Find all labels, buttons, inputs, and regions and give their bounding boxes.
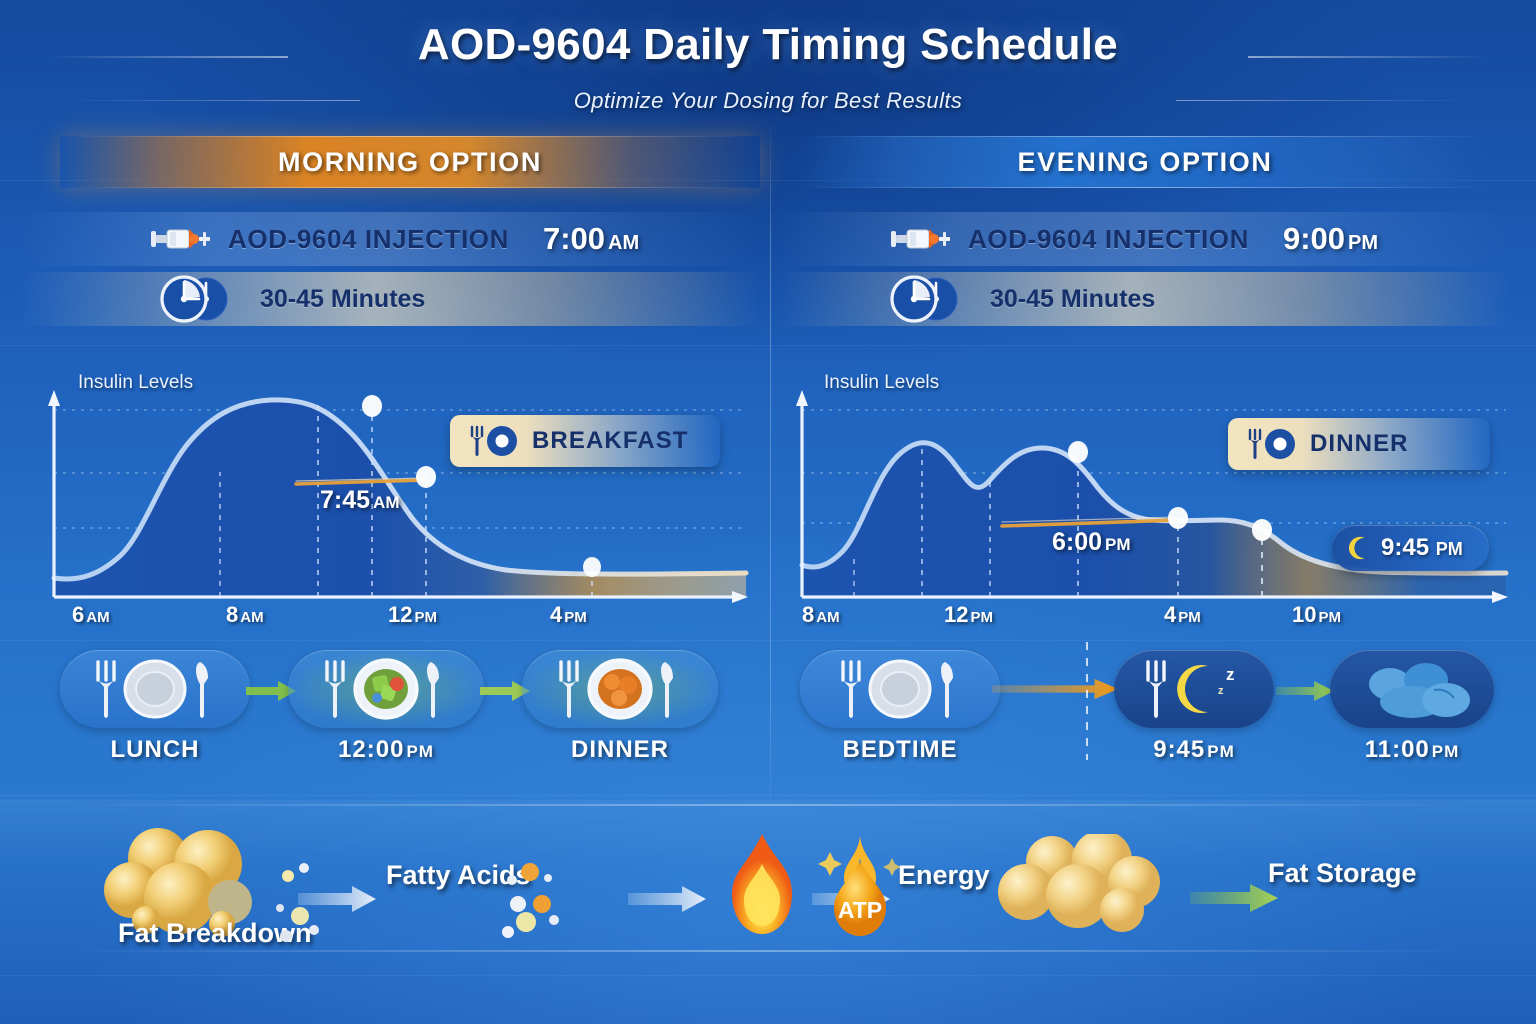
arrow-icon bbox=[1276, 680, 1336, 702]
evening-injection-label: AOD-9604 INJECTION bbox=[968, 224, 1249, 255]
moon-sleep-icon: z z bbox=[1134, 654, 1254, 724]
pathway-rule-bottom bbox=[60, 950, 1476, 952]
evening-y-axis-label: Insulin Levels bbox=[824, 372, 939, 394]
evening-point-label: 6:00PM bbox=[1052, 528, 1131, 557]
empty-plate-icon bbox=[825, 654, 975, 724]
fork-plate-icon bbox=[1244, 426, 1300, 462]
evening-option-banner: EVENING OPTION bbox=[800, 136, 1490, 188]
molecules-icon bbox=[500, 858, 620, 948]
morning-x-tick-3: 4PM bbox=[550, 602, 587, 628]
moon-icon bbox=[1346, 535, 1372, 561]
morning-strip-caption-1: 12:00PM bbox=[288, 736, 484, 764]
morning-y-axis-label: Insulin Levels bbox=[78, 372, 193, 394]
pathway-label-energy: Energy bbox=[898, 860, 990, 891]
banner-edge-bottom bbox=[800, 187, 1490, 188]
morning-option-banner: MORNING OPTION bbox=[60, 136, 760, 188]
clock-icon bbox=[160, 275, 246, 323]
banner-edge-top bbox=[800, 136, 1490, 137]
dinner-badge: DINNER bbox=[1228, 418, 1490, 470]
evening-injection-time: 9:00PM bbox=[1283, 221, 1378, 257]
fat-globules-icon bbox=[990, 834, 1190, 944]
evening-option-label: EVENING OPTION bbox=[1018, 147, 1273, 178]
evening-injection-row: AOD-9604 INJECTION 9:00PM bbox=[780, 212, 1510, 266]
morning-strip-caption-2: DINNER bbox=[522, 736, 718, 764]
morning-insulin-chart: Insulin Levels 7:45AM BREAKFAST 6AM 8AM … bbox=[20, 360, 760, 640]
scanline bbox=[0, 640, 1536, 641]
pathway-rule-top bbox=[60, 804, 1476, 806]
meal-cell-sleep[interactable]: z z bbox=[1114, 650, 1274, 728]
meal-cell-lunchtime[interactable] bbox=[288, 650, 484, 728]
meal-cell-bedtime[interactable] bbox=[800, 650, 1000, 728]
dinner-badge-label: DINNER bbox=[1310, 430, 1409, 458]
bedtime-moon-badge: 9:45 PM bbox=[1332, 525, 1489, 571]
evening-x-tick-3: 10PM bbox=[1292, 602, 1341, 628]
svg-text:z: z bbox=[1226, 665, 1235, 684]
meal-cell-asleep[interactable] bbox=[1330, 650, 1494, 728]
morning-option-label: MORNING OPTION bbox=[278, 147, 542, 178]
morning-x-tick-0: 6AM bbox=[72, 602, 110, 628]
sleeping-person-icon bbox=[1342, 654, 1482, 724]
evening-strip-caption-0: BEDTIME bbox=[800, 736, 1000, 764]
banner-edge-top bbox=[60, 136, 760, 137]
evening-strip-caption-1: 9:45PM bbox=[1114, 736, 1274, 764]
scanline bbox=[0, 795, 1536, 796]
evening-meal-strip: z z BEDTIME 9:45PM 11:00PM bbox=[790, 650, 1500, 750]
page-subtitle: Optimize Your Dosing for Best Results bbox=[0, 88, 1536, 114]
page-title: AOD-9604 Daily Timing Schedule bbox=[0, 20, 1536, 70]
fork-plate-icon bbox=[466, 423, 522, 459]
breakfast-badge-label: BREAKFAST bbox=[532, 427, 689, 455]
arrow-icon bbox=[1190, 882, 1280, 914]
flame-icon bbox=[722, 830, 802, 940]
morning-point-label: 7:45AM bbox=[320, 486, 400, 515]
evening-duration-text: 30-45 Minutes bbox=[990, 285, 1155, 314]
morning-strip-caption-0: LUNCH bbox=[60, 736, 250, 764]
morning-injection-row: AOD-9604 INJECTION 7:00AM bbox=[20, 212, 760, 266]
evening-duration-row: 30-45 Minutes bbox=[780, 272, 1510, 326]
banner-edge-bottom bbox=[60, 187, 760, 188]
meal-cell-lunch[interactable] bbox=[60, 650, 250, 728]
morning-injection-label: AOD-9604 INJECTION bbox=[228, 224, 509, 255]
moon-badge-time: 9:45 PM bbox=[1381, 534, 1463, 562]
meal-plate-icon bbox=[545, 654, 695, 724]
evening-insulin-chart: Insulin Levels 6:00PM DINNER 9:45 PM 8AM bbox=[780, 360, 1520, 640]
strip-divider bbox=[1086, 642, 1088, 760]
meal-cell-dinner[interactable] bbox=[522, 650, 718, 728]
evening-strip-caption-2: 11:00PM bbox=[1330, 736, 1494, 764]
morning-injection-time: 7:00AM bbox=[543, 221, 639, 257]
morning-duration-row: 30-45 Minutes bbox=[20, 272, 760, 326]
scanline bbox=[0, 345, 1536, 346]
evening-x-tick-2: 4PM bbox=[1164, 602, 1201, 628]
infographic-canvas: AOD-9604 Daily Timing Schedule Optimize … bbox=[0, 0, 1536, 1024]
svg-text:ATP: ATP bbox=[838, 897, 882, 923]
morning-x-tick-2: 12PM bbox=[388, 602, 437, 628]
breakfast-badge: BREAKFAST bbox=[450, 415, 720, 467]
metabolic-pathway: Fat Breakdown Fatty Acids bbox=[0, 800, 1536, 970]
molecules-icon bbox=[270, 858, 390, 948]
scanline bbox=[0, 975, 1536, 976]
arrow-icon bbox=[628, 884, 708, 914]
column-divider bbox=[770, 118, 771, 824]
morning-duration-text: 30-45 Minutes bbox=[260, 285, 425, 314]
clock-icon bbox=[890, 275, 976, 323]
syringe-icon bbox=[150, 226, 214, 252]
morning-x-tick-1: 8AM bbox=[226, 602, 264, 628]
arrow-icon bbox=[986, 678, 1126, 700]
evening-x-tick-0: 8AM bbox=[802, 602, 840, 628]
empty-plate-icon bbox=[80, 654, 230, 724]
evening-x-tick-1: 12PM bbox=[944, 602, 993, 628]
salad-plate-icon bbox=[311, 654, 461, 724]
evening-chart-svg bbox=[780, 360, 1520, 640]
pathway-label-fat-storage: Fat Storage bbox=[1268, 858, 1417, 889]
svg-text:z: z bbox=[1218, 685, 1224, 697]
morning-meal-strip: LUNCH 12:00PM DINNER bbox=[40, 650, 740, 750]
syringe-icon bbox=[890, 226, 954, 252]
